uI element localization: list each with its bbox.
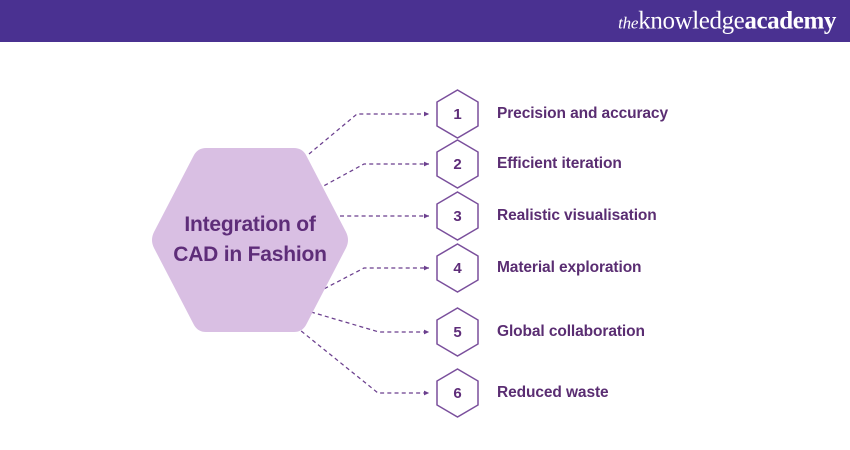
item-badge-1: 1	[434, 88, 481, 140]
connector-layer	[0, 42, 850, 450]
item-label-3: Realistic visualisation	[497, 207, 657, 225]
item-number-5: 5	[434, 306, 481, 358]
header-band: theknowledgeacademy	[0, 0, 850, 42]
item-number-4: 4	[434, 242, 481, 294]
item-label-4: Material exploration	[497, 259, 641, 277]
item-badge-6: 6	[434, 367, 481, 419]
list-item[interactable]: 5 Global collaboration	[434, 306, 645, 358]
diagram-canvas: Integration of CAD in Fashion 1 Precisio…	[0, 42, 850, 450]
logo-text-academy: academy	[744, 8, 836, 35]
logo-text-knowledge: knowledge	[638, 8, 744, 35]
item-badge-3: 3	[434, 190, 481, 242]
list-item[interactable]: 4 Material exploration	[434, 242, 641, 294]
list-item[interactable]: 2 Efficient iteration	[434, 138, 622, 190]
item-label-6: Reduced waste	[497, 384, 609, 402]
item-badge-4: 4	[434, 242, 481, 294]
list-item[interactable]: 6 Reduced waste	[434, 367, 609, 419]
item-label-5: Global collaboration	[497, 323, 645, 341]
list-item[interactable]: 3 Realistic visualisation	[434, 190, 657, 242]
theknowledgeacademy-logo: theknowledgeacademy	[618, 9, 836, 34]
logo-text-the: the	[618, 14, 638, 33]
item-label-2: Efficient iteration	[497, 155, 622, 173]
item-number-3: 3	[434, 190, 481, 242]
item-label-1: Precision and accuracy	[497, 105, 668, 123]
item-badge-5: 5	[434, 306, 481, 358]
item-number-6: 6	[434, 367, 481, 419]
list-item[interactable]: 1 Precision and accuracy	[434, 88, 668, 140]
central-node-label: Integration of CAD in Fashion	[150, 140, 350, 340]
central-node: Integration of CAD in Fashion	[150, 140, 350, 340]
item-number-2: 2	[434, 138, 481, 190]
item-number-1: 1	[434, 88, 481, 140]
item-badge-2: 2	[434, 138, 481, 190]
